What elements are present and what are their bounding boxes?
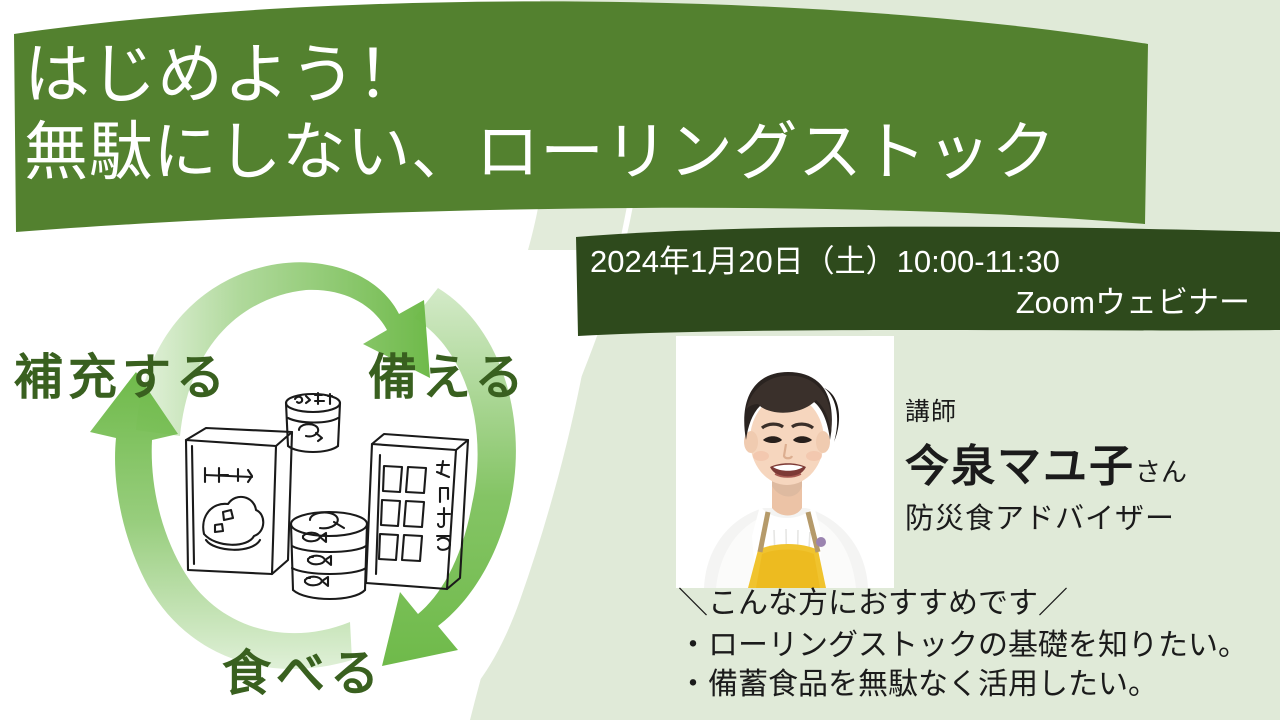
webinar-poster: はじめよう！ 無駄にしない、ローリングストック 2024年1月20日（土）10:… [0, 0, 1280, 720]
title-banner [14, 1, 1148, 232]
speaker-photo-group [676, 336, 894, 588]
date-banner [576, 227, 1280, 336]
background-shapes [0, 0, 1280, 720]
